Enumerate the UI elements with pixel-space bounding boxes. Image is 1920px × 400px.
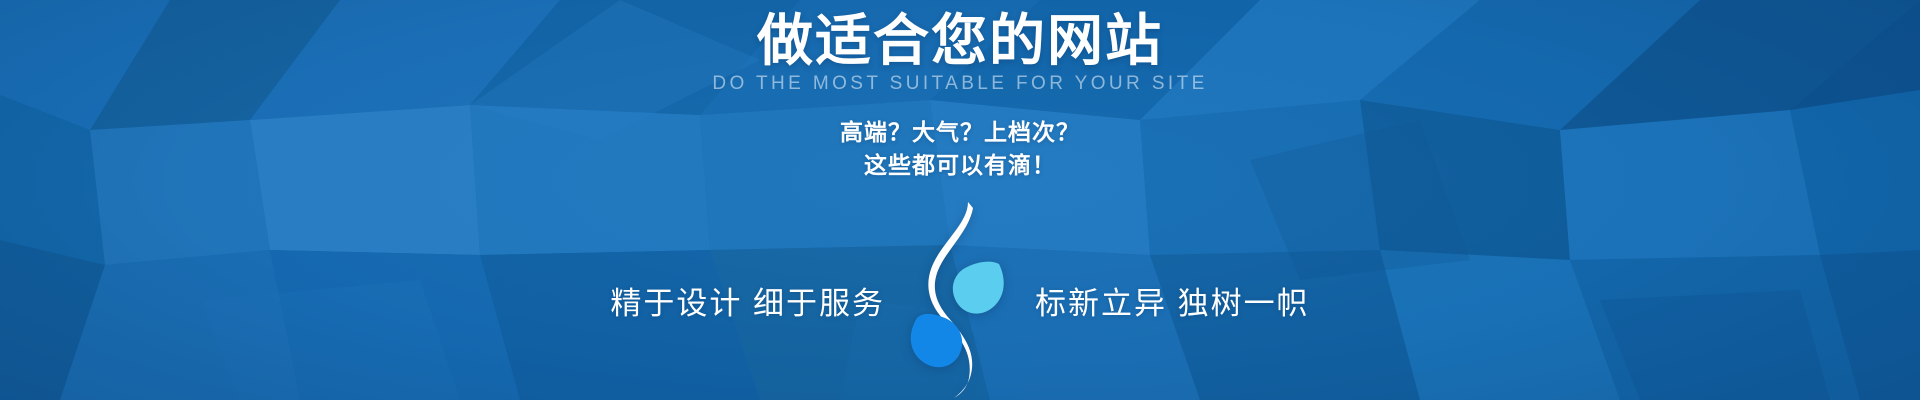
slogan-row: 精于设计 细于服务 标新立异 独树一帜 [0,208,1920,400]
slogan-left: 精于设计 细于服务 [610,288,885,319]
leaf-sprout-logo-icon [899,200,1021,400]
banner-subheadline-english: DO THE MOST SUITABLE FOR YOUR SITE [712,74,1207,95]
tagline-line-2: 这些都可以有滴！ [840,149,1080,182]
tagline-line-1: 高端？大气？上档次？ [840,116,1080,149]
banner-headline: 做适合您的网站 [757,11,1163,71]
banner-content: 做适合您的网站 DO THE MOST SUITABLE FOR YOUR SI… [0,0,1920,400]
slogan-right: 标新立异 独树一帜 [1035,288,1310,319]
hero-banner: 做适合您的网站 DO THE MOST SUITABLE FOR YOUR SI… [0,0,1920,400]
banner-tagline: 高端？大气？上档次？ 这些都可以有滴！ [840,116,1080,181]
logo-slot [885,208,1035,400]
